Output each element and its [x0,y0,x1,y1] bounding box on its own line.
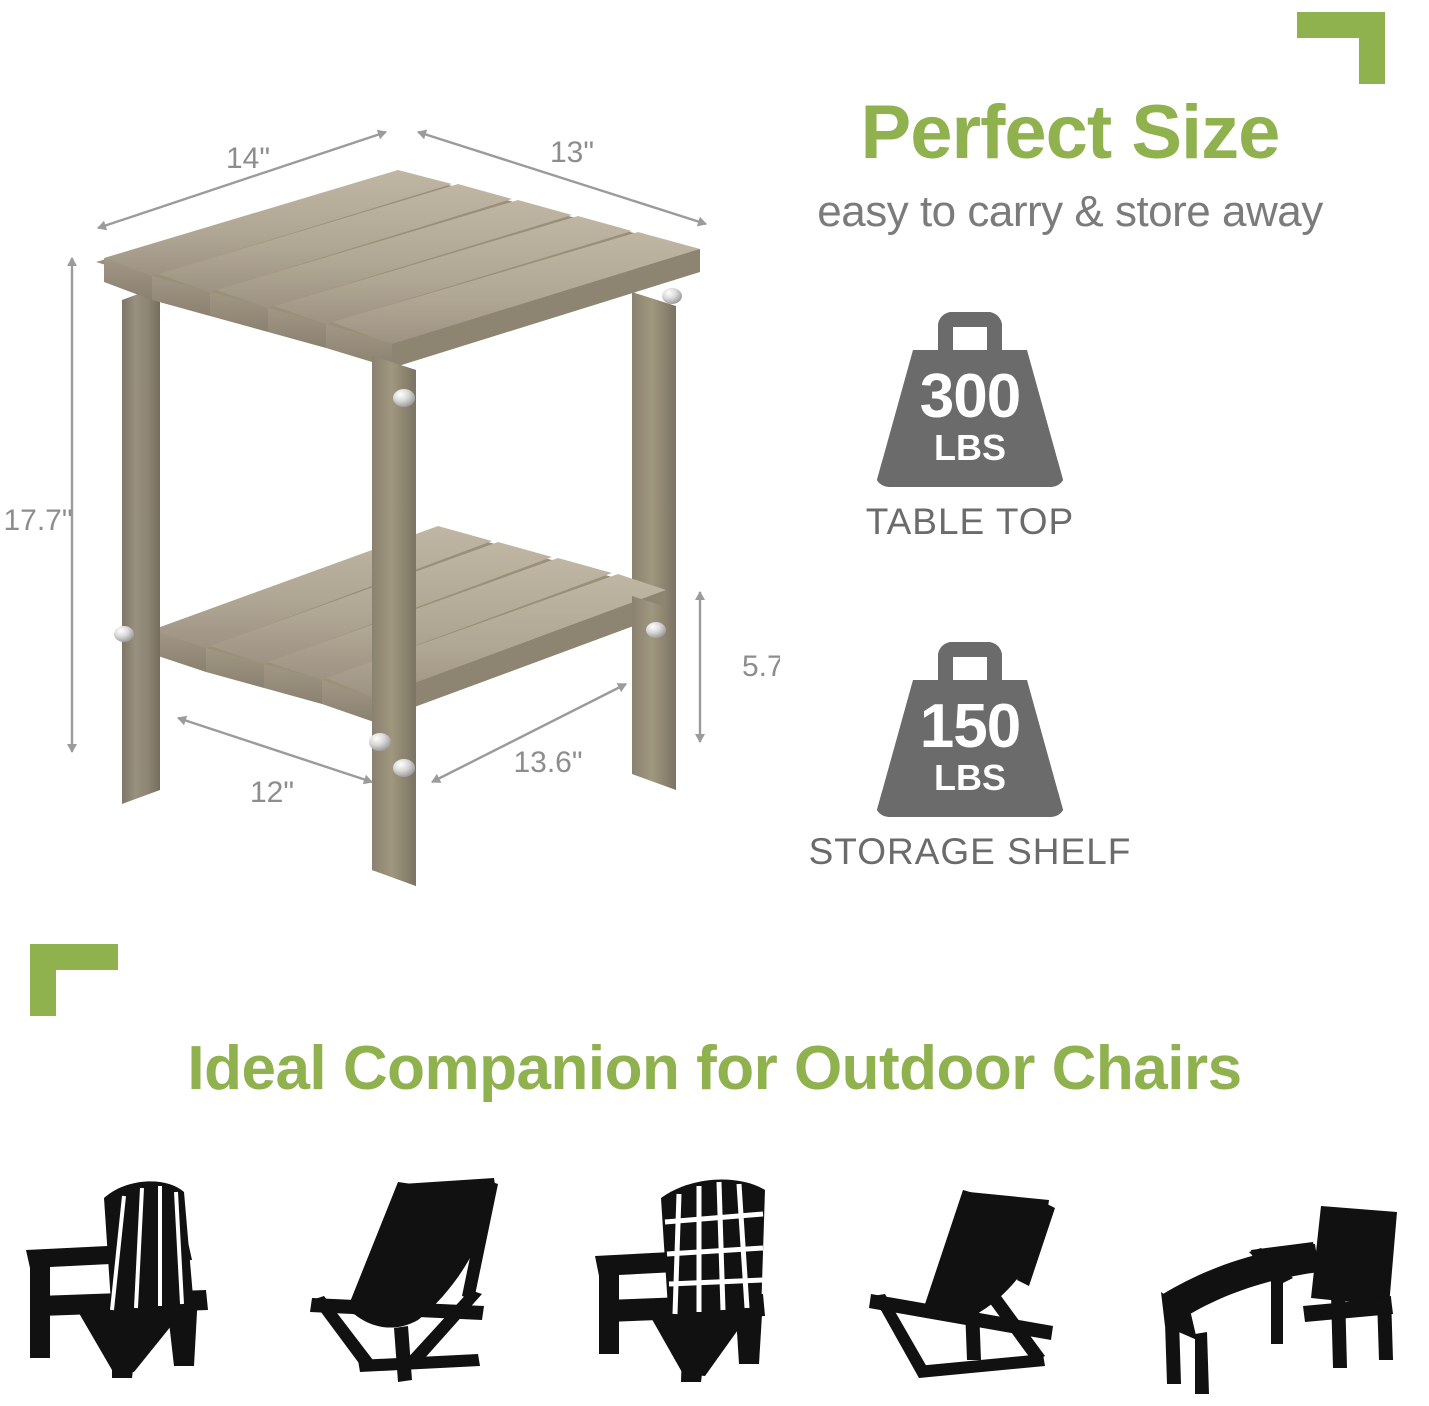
capacity-badge-storage-shelf: 150 LBS STORAGE SHELF [760,642,1180,870]
dimension-label-overall-height: 17.7" [3,504,72,537]
capacity-unit: LBS [875,760,1065,796]
page-subtitle-perfect-size: easy to carry & store away [740,190,1400,234]
weight-icon: 300 LBS [875,312,1065,487]
page-title-perfect-size: Perfect Size [740,95,1400,171]
lattice-adirondack-chair-silhouette [579,1168,829,1398]
infographic-stage: 14" 13" 17.7" 5.7" 12" 13.6" Perfect Siz… [0,0,1429,1406]
capacity-badge-table-top: 300 LBS TABLE TOP [760,312,1180,540]
chaise-lounge-silhouette [1143,1198,1413,1398]
adirondack-chair-silhouette [16,1168,266,1398]
dimension-label-top-depth: 13" [550,136,594,169]
capacity-unit: LBS [875,430,1065,466]
corner-bracket-bottom-left [30,944,118,1016]
capacity-number: 150 [875,696,1065,758]
dimension-label-shelf-width: 12" [250,776,294,809]
capacity-number: 300 [875,366,1065,428]
folding-sling-chair-silhouette [298,1168,548,1398]
capacity-label: TABLE TOP [760,503,1180,540]
dimension-label-shelf-depth: 13.6" [513,746,582,779]
bracket-vertical-bar [30,944,56,1016]
capacity-label: STORAGE SHELF [760,833,1180,870]
bracket-vertical-bar [1359,12,1385,84]
section-title-ideal-companion: Ideal Companion for Outdoor Chairs [0,1038,1429,1100]
deck-chair-silhouette [861,1168,1111,1398]
product-illustration: 14" 13" 17.7" 5.7" 12" 13.6" [0,0,780,950]
weight-icon: 150 LBS [875,642,1065,817]
dimension-label-top-width: 14" [226,142,270,175]
corner-bracket-top-right [1297,12,1385,84]
chair-silhouette-row [0,1148,1429,1398]
